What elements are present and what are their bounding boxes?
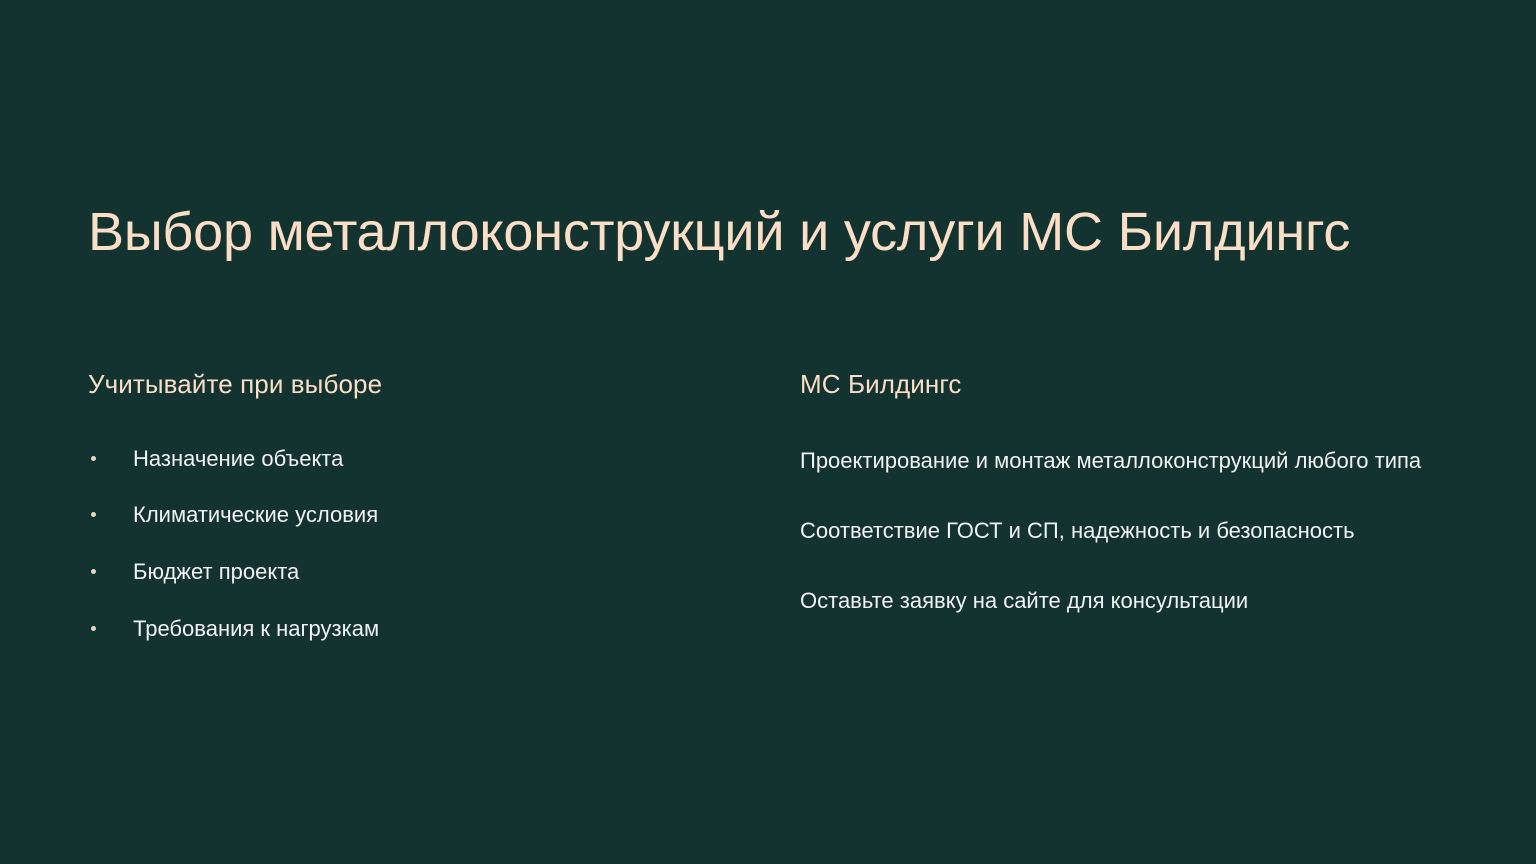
presentation-slide: Выбор металлоконструкций и услуги МС Бил… (0, 0, 1536, 864)
service-paragraph: Оставьте заявку на сайте для консультаци… (800, 584, 1445, 618)
list-item-label: Климатические условия (133, 502, 378, 527)
service-paragraph: Соответствие ГОСТ и СП, надежность и без… (800, 514, 1445, 548)
page-title: Выбор металлоконструкций и услуги МС Бил… (88, 198, 1398, 266)
right-column-heading: МС Билдингс (800, 368, 1448, 402)
criteria-bullet-list: Назначение объекта Климатические условия… (88, 444, 728, 644)
service-paragraph: Проектирование и монтаж металлоконструкц… (800, 444, 1445, 478)
list-item: Требования к нагрузкам (88, 614, 728, 644)
right-column: МС Билдингс Проектирование и монтаж мета… (800, 368, 1448, 618)
left-column: Учитывайте при выборе Назначение объекта… (88, 368, 728, 644)
list-item: Климатические условия (88, 500, 728, 530)
list-item: Назначение объекта (88, 444, 728, 474)
bullet-dot-icon (91, 569, 96, 574)
list-item-label: Требования к нагрузкам (133, 616, 379, 641)
content-columns: Учитывайте при выборе Назначение объекта… (0, 368, 1536, 788)
list-item-label: Бюджет проекта (133, 559, 299, 584)
list-item-label: Назначение объекта (133, 446, 343, 471)
left-column-heading: Учитывайте при выборе (88, 368, 728, 402)
bullet-dot-icon (91, 512, 96, 517)
list-item: Бюджет проекта (88, 557, 728, 587)
bullet-dot-icon (91, 456, 96, 461)
bullet-dot-icon (91, 626, 96, 631)
